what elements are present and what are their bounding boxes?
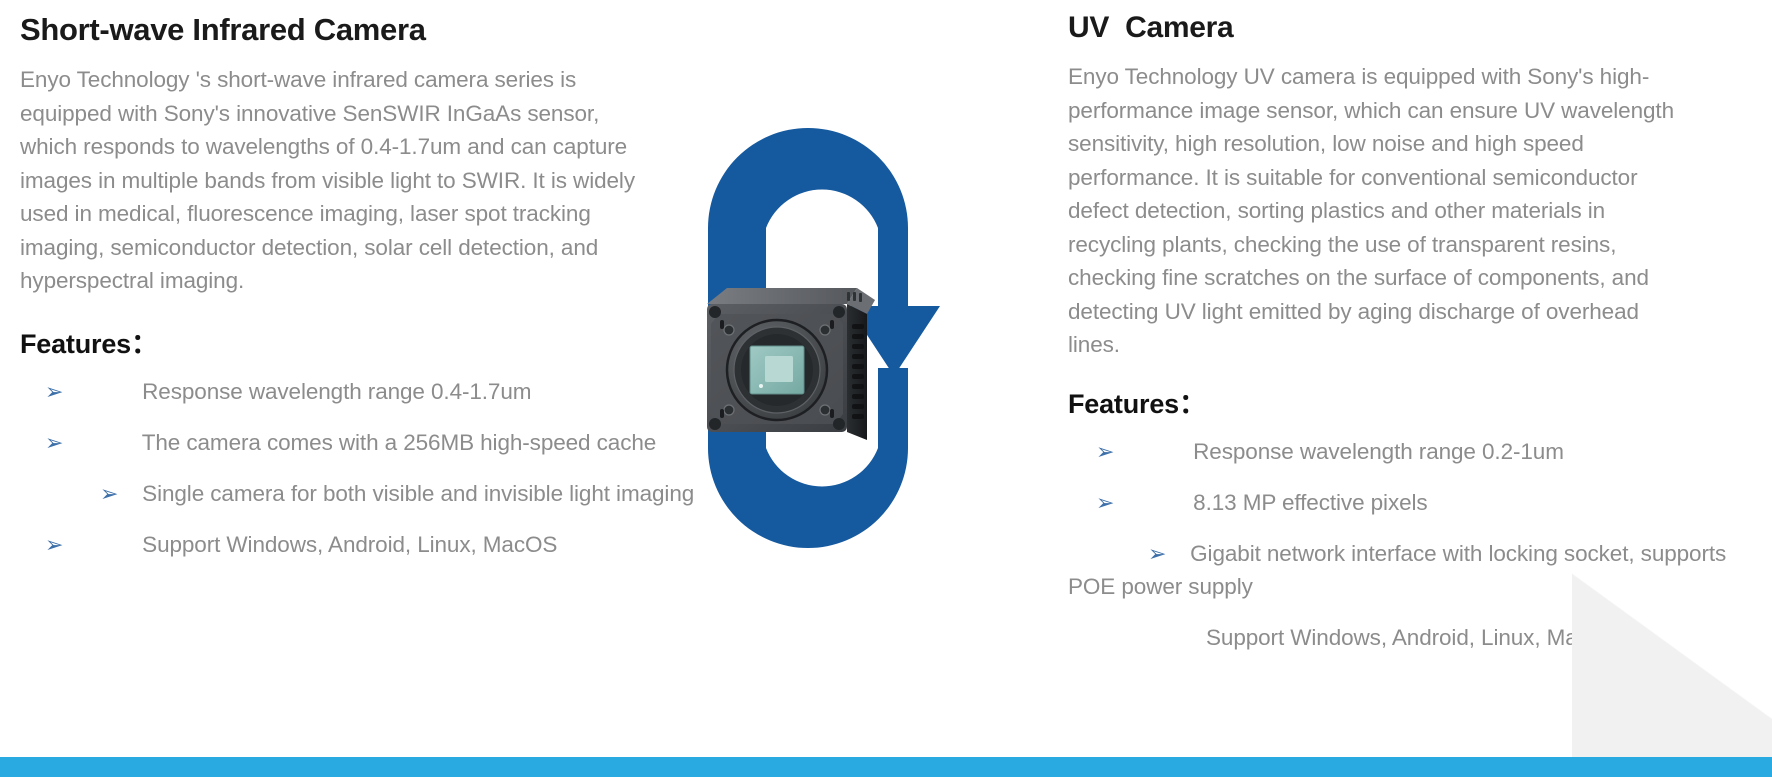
bullet-arrow-icon: ➢ [100, 528, 136, 561]
left-features-title: Features： [20, 322, 720, 361]
left-paragraph: Enyo Technology 's short-wave infrared c… [20, 63, 660, 298]
bullet-arrow-icon: ➢ [100, 477, 136, 510]
left-feature-list: ➢ Response wavelength range 0.4-1.7um ➢ … [20, 375, 720, 561]
bullet-arrow-icon: ➢ [100, 375, 136, 408]
list-item: ➢ Support Windows, Android, Linux, MacOS [20, 528, 720, 561]
list-item: ➢ Single camera for both visible and inv… [20, 477, 720, 510]
list-item: Support Windows, Android, Linux, MacOS [1068, 621, 1758, 654]
list-item-label: The camera comes with a 256MB high-speed… [142, 430, 656, 455]
list-item-label: Single camera for both visible and invis… [142, 481, 694, 506]
list-item-label: Response wavelength range 0.2-1um [1193, 439, 1564, 464]
industrial-camera-image [697, 282, 885, 454]
right-paragraph: Enyo Technology UV camera is equipped wi… [1068, 60, 1688, 362]
list-item: ➢ Response wavelength range 0.4-1.7um [20, 375, 720, 408]
left-column: Short-wave Infrared Camera Enyo Technolo… [20, 0, 720, 579]
list-item-label: Support Windows, Android, Linux, MacOS [142, 532, 557, 557]
list-item-label: 8.13 MP effective pixels [1193, 490, 1427, 515]
right-column: UV Camera Enyo Technology UV camera is e… [1068, 0, 1758, 672]
list-item: ➢ The camera comes with a 256MB high-spe… [20, 426, 720, 459]
right-heading: UV Camera [1068, 0, 1758, 44]
list-item: ➢ 8.13 MP effective pixels [1068, 486, 1758, 519]
list-item-label: Response wavelength range 0.4-1.7um [142, 379, 531, 404]
slide-canvas: Short-wave Infrared Camera Enyo Technolo… [0, 0, 1772, 777]
left-heading: Short-wave Infrared Camera [20, 0, 720, 47]
list-item-label: Support Windows, Android, Linux, MacOS [1206, 625, 1621, 650]
bullet-arrow-icon: ➢ [1148, 537, 1184, 570]
bullet-arrow-icon: ➢ [1151, 486, 1187, 519]
list-item: ➢ Response wavelength range 0.2-1um [1068, 435, 1758, 468]
list-item: ➢ Gigabit network interface with locking… [1068, 537, 1758, 603]
bullet-arrow-icon: ➢ [100, 426, 136, 459]
right-features-title: Features： [1068, 382, 1758, 421]
bottom-accent-band [0, 757, 1772, 777]
right-feature-list: ➢ Response wavelength range 0.2-1um ➢ 8.… [1068, 435, 1758, 654]
bullet-arrow-icon: ➢ [1151, 435, 1187, 468]
